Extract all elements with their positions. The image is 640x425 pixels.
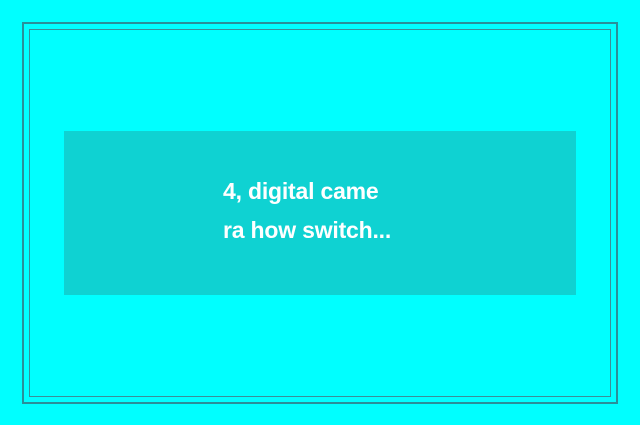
caption-line-1: 4, digital came [223, 172, 523, 211]
caption-line-2: ra how switch... [223, 211, 523, 250]
caption-panel: 4, digital came ra how switch... [64, 131, 576, 295]
caption-text-block: 4, digital came ra how switch... [223, 172, 523, 250]
screenshot-canvas: 4, digital came ra how switch... [0, 0, 640, 425]
